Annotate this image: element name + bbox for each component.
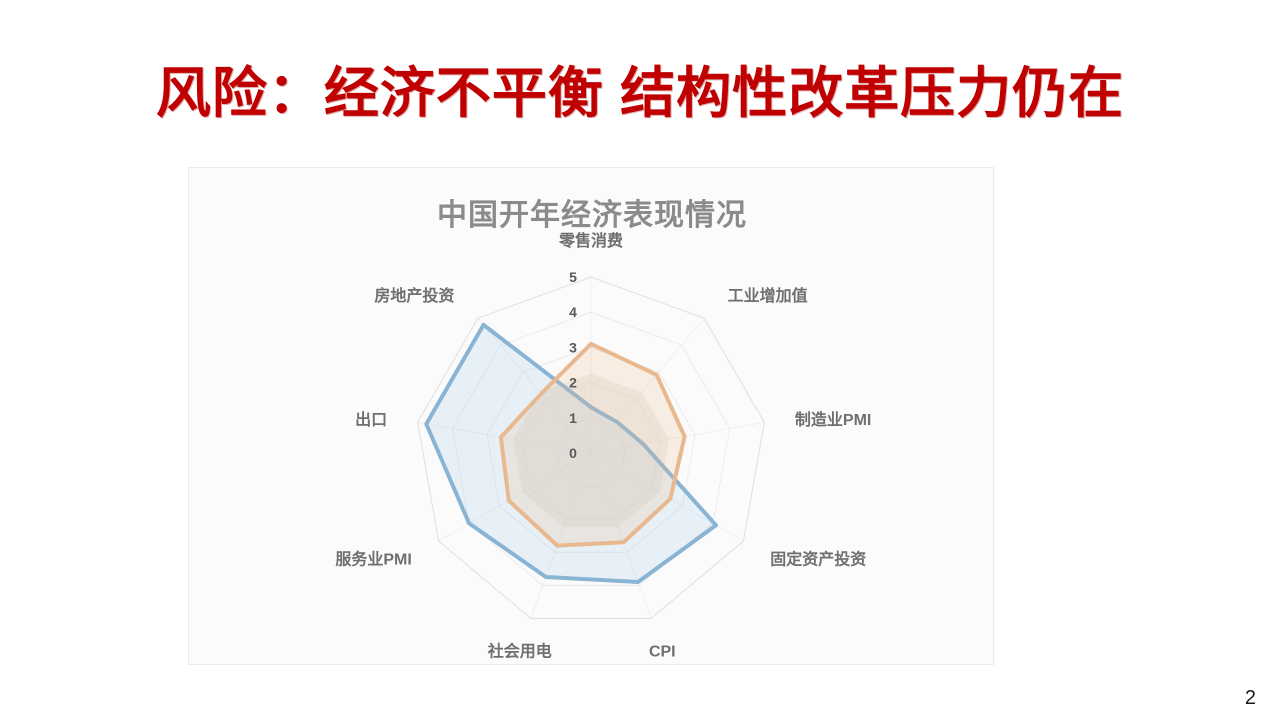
radial-tick-5: 5 <box>569 269 577 285</box>
axis-label-8: 房地产投资 <box>374 286 454 305</box>
page-number: 2 <box>1245 687 1256 710</box>
radar-svg: 012345 零售消费工业增加值制造业PMI固定资产投资CPI社会用电服务业PM… <box>189 168 995 666</box>
axis-label-4: CPI <box>649 643 676 660</box>
axis-label-6: 服务业PMI <box>335 549 411 568</box>
radial-tick-3: 3 <box>569 339 577 355</box>
axis-label-3: 固定资产投资 <box>770 549 866 568</box>
axis-label-5: 社会用电 <box>487 641 552 660</box>
radial-tick-4: 4 <box>569 304 577 320</box>
radial-tick-0: 0 <box>569 445 577 461</box>
radial-tick-2: 2 <box>569 375 577 391</box>
chart-card: 中国开年经济表现情况 012345 零售消费工业增加值制造业PMI固定资产投资C… <box>188 167 994 665</box>
axis-label-0: 零售消费 <box>558 231 623 250</box>
radial-tick-1: 1 <box>569 410 577 426</box>
radar-chart: 012345 零售消费工业增加值制造业PMI固定资产投资CPI社会用电服务业PM… <box>189 168 995 666</box>
slide-title: 风险：经济不平衡 结构性改革压力仍在 <box>0 62 1280 125</box>
axis-label-1: 工业增加值 <box>728 286 808 305</box>
axis-label-2: 制造业PMI <box>795 410 871 429</box>
axis-label-7: 出口 <box>355 410 387 429</box>
